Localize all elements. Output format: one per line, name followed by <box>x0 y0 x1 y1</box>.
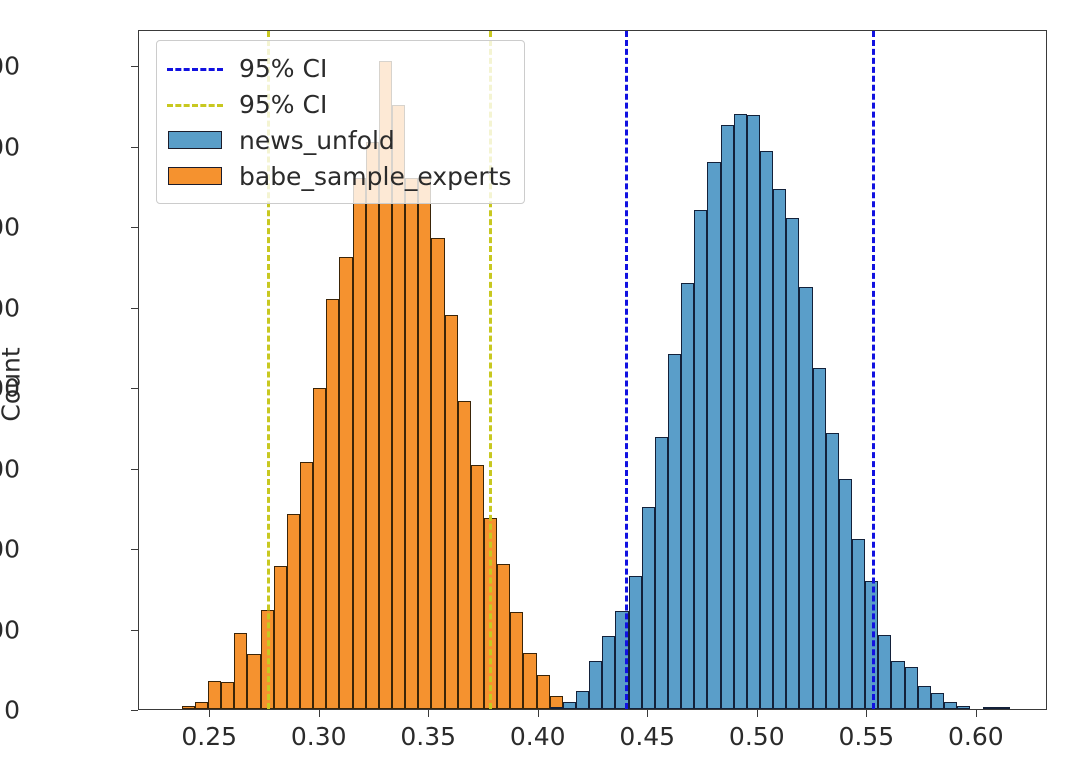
histogram-bar <box>668 354 681 709</box>
histogram-bar <box>918 686 931 709</box>
x-tick-mark <box>647 710 648 717</box>
histogram-bar <box>445 315 458 709</box>
x-tick-label: 0.50 <box>729 722 785 751</box>
legend-item[interactable]: 95% CI <box>167 86 511 122</box>
histogram-bar <box>313 388 326 709</box>
histogram-bar <box>983 707 996 709</box>
legend-color-swatch <box>167 165 223 187</box>
x-tick-mark <box>976 710 977 717</box>
x-tick-label: 0.30 <box>291 722 347 751</box>
x-tick-mark <box>866 710 867 717</box>
histogram-bar <box>339 257 352 709</box>
histogram-bar <box>366 142 379 709</box>
histogram-bar <box>642 507 655 709</box>
y-tick-mark <box>131 66 138 67</box>
x-tick-label: 0.60 <box>948 722 1004 751</box>
histogram-bar <box>353 178 366 709</box>
histogram-bar <box>326 299 339 709</box>
x-tick-label: 0.55 <box>838 722 894 751</box>
histogram-figure: Count 0100200300400500600700800 0.250.30… <box>0 0 1080 781</box>
legend-item[interactable]: babe_sample_experts <box>167 158 511 194</box>
color-swatch-icon <box>168 131 222 149</box>
dashed-line-icon <box>167 104 223 107</box>
histogram-bar <box>247 654 260 709</box>
histogram-bar <box>786 218 799 709</box>
legend-item-label: news_unfold <box>239 128 395 153</box>
histogram-bar <box>589 661 602 709</box>
histogram-bar <box>431 238 444 709</box>
dashed-line-icon <box>167 68 223 71</box>
ci-vline-news_unfold <box>625 31 628 709</box>
x-tick-label: 0.40 <box>510 722 566 751</box>
x-tick-mark <box>538 710 539 717</box>
histogram-bar <box>458 401 471 709</box>
histogram-bar <box>799 287 812 709</box>
y-tick-mark <box>131 308 138 309</box>
legend-item-label: 95% CI <box>239 92 327 117</box>
y-tick-mark <box>131 630 138 631</box>
y-tick-label: 100 <box>0 615 20 644</box>
histogram-bar <box>694 210 707 709</box>
x-tick-label: 0.45 <box>619 722 675 751</box>
y-tick-mark <box>131 227 138 228</box>
ci-vline-news_unfold <box>872 31 875 709</box>
legend-color-swatch <box>167 129 223 151</box>
histogram-bar <box>931 693 944 709</box>
x-tick-mark <box>757 710 758 717</box>
histogram-bar <box>813 368 826 709</box>
histogram-bar <box>891 661 904 709</box>
histogram-bar <box>497 564 510 709</box>
x-tick-mark <box>209 710 210 717</box>
legend-dashed-line-icon <box>167 57 223 79</box>
histogram-bar <box>182 706 195 709</box>
histogram-bar <box>208 681 221 709</box>
histogram-bar <box>905 667 918 709</box>
histogram-bar <box>287 514 300 709</box>
y-tick-mark <box>131 147 138 148</box>
histogram-bar <box>655 437 668 709</box>
chart-legend: 95% CI95% CInews_unfoldbabe_sample_exper… <box>156 40 525 204</box>
x-tick-label: 0.25 <box>181 722 237 751</box>
histogram-bar <box>510 612 523 709</box>
y-tick-label: 400 <box>0 374 20 403</box>
y-tick-label: 0 <box>0 696 20 725</box>
histogram-bar <box>944 702 957 709</box>
histogram-bar <box>234 633 247 709</box>
legend-item[interactable]: 95% CI <box>167 50 511 86</box>
x-tick-mark <box>319 710 320 717</box>
histogram-bar <box>721 125 734 709</box>
histogram-bar <box>563 702 576 709</box>
y-tick-label: 600 <box>0 213 20 242</box>
y-tick-mark <box>131 469 138 470</box>
x-tick-mark <box>428 710 429 717</box>
histogram-bar <box>418 178 431 709</box>
histogram-bar <box>734 114 747 710</box>
legend-dashed-line-icon <box>167 93 223 115</box>
histogram-bar <box>195 702 208 709</box>
y-tick-label: 800 <box>0 52 20 81</box>
histogram-bar <box>760 151 773 709</box>
histogram-bar <box>602 636 615 709</box>
y-tick-label: 300 <box>0 454 20 483</box>
y-tick-label: 200 <box>0 535 20 564</box>
legend-item[interactable]: news_unfold <box>167 122 511 158</box>
histogram-bar <box>681 283 694 710</box>
histogram-bar <box>826 433 839 709</box>
y-tick-mark <box>131 710 138 711</box>
histogram-bar <box>773 189 786 709</box>
x-tick-label: 0.35 <box>400 722 456 751</box>
histogram-bar <box>274 566 287 709</box>
color-swatch-icon <box>168 167 222 185</box>
histogram-bar <box>997 707 1010 709</box>
histogram-bar <box>878 635 891 709</box>
histogram-bar <box>576 691 589 709</box>
y-tick-label: 500 <box>0 293 20 322</box>
histogram-bar <box>221 682 234 709</box>
legend-item-label: babe_sample_experts <box>239 164 511 189</box>
y-tick-mark <box>131 388 138 389</box>
histogram-bar <box>550 707 563 709</box>
histogram-bar <box>852 539 865 709</box>
histogram-bar <box>537 675 550 709</box>
histogram-bar <box>957 706 970 709</box>
histogram-bar <box>747 115 760 709</box>
histogram-bar <box>300 462 313 709</box>
histogram-bar <box>471 465 484 709</box>
histogram-bar <box>523 653 536 709</box>
y-tick-mark <box>131 549 138 550</box>
legend-item-label: 95% CI <box>239 56 327 81</box>
histogram-bar <box>405 178 418 709</box>
y-tick-label: 700 <box>0 132 20 161</box>
histogram-bar <box>629 576 642 709</box>
histogram-bar <box>707 162 720 709</box>
histogram-bar <box>839 479 852 709</box>
